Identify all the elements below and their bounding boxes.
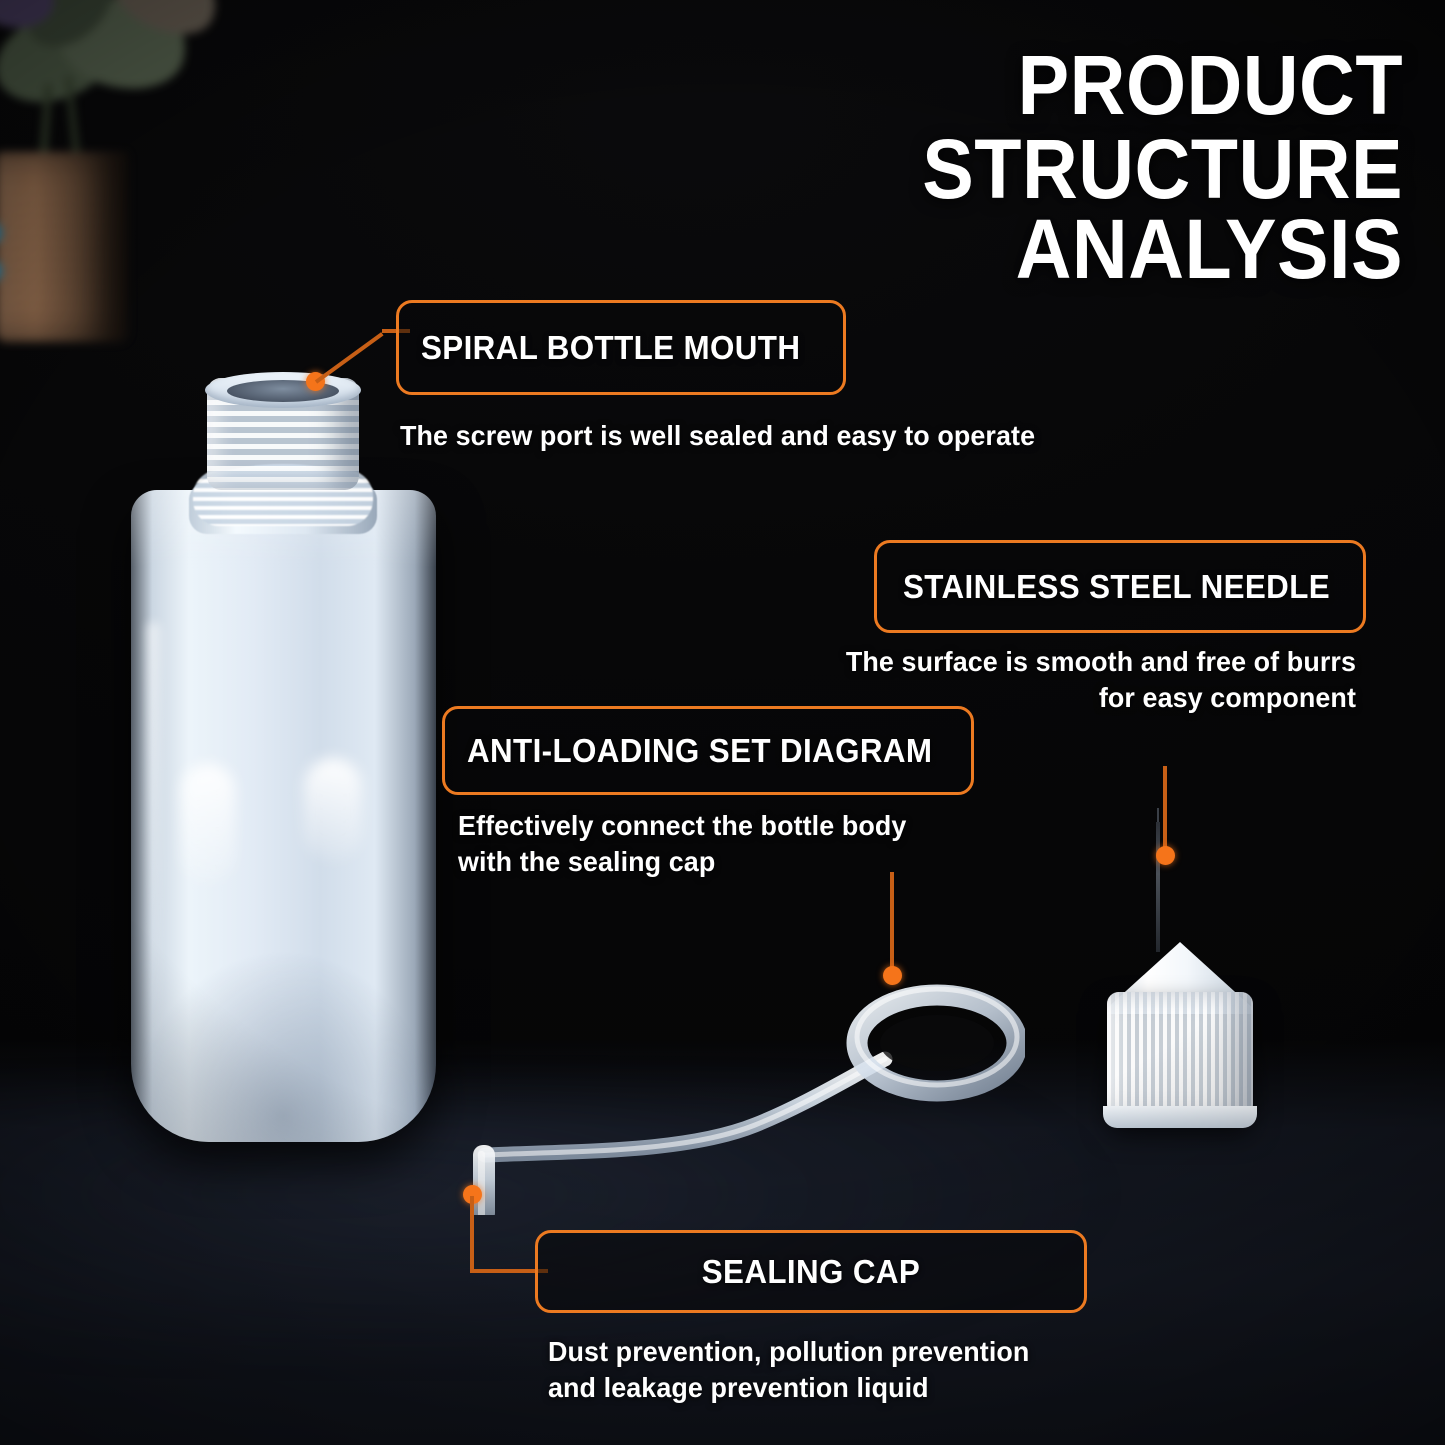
infographic-canvas: PRODUCT STRUCTURE ANALYSIS SPIRAL BOTTLE… — [0, 0, 1445, 1445]
callout-desc-line-1: Dust prevention, pollution prevention — [548, 1334, 1297, 1370]
callout-desc-line-1: The surface is smooth and free of burrs — [674, 644, 1356, 680]
leader-line-vertical-sealing-cap — [470, 1196, 474, 1273]
callout-description-anti-loading-set-diagram: Effectively connect the bottle body with… — [458, 808, 1130, 880]
callout-label-spiral-bottle-mouth: SPIRAL BOTTLE MOUTH — [421, 329, 800, 367]
title-line-2: STRUCTURE ANALYSIS — [538, 130, 1403, 290]
callout-description-spiral-bottle-mouth: The screw port is well sealed and easy t… — [400, 418, 1091, 454]
callout-dot-strap-ring — [883, 966, 902, 985]
leader-line-vertical-strap-ring — [890, 872, 894, 972]
title-line-1: PRODUCT — [538, 46, 1403, 126]
leader-line-vertical-needle — [1163, 766, 1167, 850]
callout-box-stainless-steel-needle[interactable]: STAINLESS STEEL NEEDLE — [874, 540, 1366, 633]
callout-description-sealing-cap: Dust prevention, pollution prevention an… — [548, 1334, 1297, 1406]
callout-label-anti-loading-set-diagram: ANTI-LOADING SET DIAGRAM — [467, 732, 932, 770]
page-title: PRODUCT STRUCTURE ANALYSIS — [463, 46, 1403, 289]
callout-description-stainless-steel-needle: The surface is smooth and free of burrs … — [674, 644, 1356, 716]
callout-label-sealing-cap: SEALING CAP — [702, 1253, 920, 1291]
callout-desc-line-1: Effectively connect the bottle body — [458, 808, 1130, 844]
callout-dot-needle — [1156, 846, 1175, 865]
callout-box-spiral-bottle-mouth[interactable]: SPIRAL BOTTLE MOUTH — [396, 300, 846, 395]
callout-box-anti-loading-set-diagram[interactable]: ANTI-LOADING SET DIAGRAM — [442, 706, 974, 795]
callout-desc-line-2: and leakage prevention liquid — [548, 1370, 1297, 1406]
callout-desc-line-2: with the sealing cap — [458, 844, 1130, 880]
callout-label-stainless-steel-needle: STAINLESS STEEL NEEDLE — [903, 568, 1330, 606]
callout-desc-line: The screw port is well sealed and easy t… — [400, 418, 1091, 454]
callout-box-sealing-cap[interactable]: SEALING CAP — [535, 1230, 1087, 1313]
